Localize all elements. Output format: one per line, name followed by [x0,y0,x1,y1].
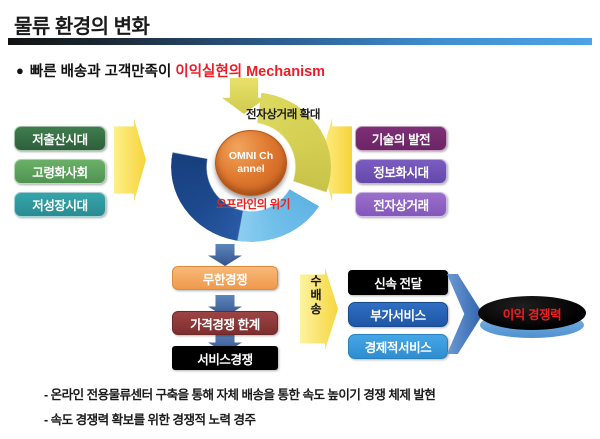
delivery-arrow-label: 수 배 송 [306,274,326,316]
subtitle-accent-text: 이익실현의 Mechanism [175,64,325,80]
right-factor-2[interactable]: 정보화시대 [355,159,447,184]
note-line-1: - 온라인 전용물류센터 구축을 통해 자체 배송을 통한 속도 높이기 경쟁 … [44,384,435,403]
bullet-icon: ● [16,63,24,78]
service-factor-2[interactable]: 부가서비스 [348,302,448,327]
connector-arrow-down-1-icon [208,244,242,266]
service-factor-1[interactable]: 신속 전달 [348,270,448,295]
arrow-right-icon [114,118,146,202]
right-factor-3[interactable]: 전자상거래 [355,192,447,217]
cycle-label-offline: 오프라인의 위기 [205,198,301,212]
title-underline [8,38,592,45]
flow-step-3[interactable]: 서비스경쟁 [172,346,278,370]
right-factor-1[interactable]: 기술의 발전 [355,126,447,151]
delivery-char-1: 수 [306,274,326,288]
delivery-char-3: 송 [306,302,326,316]
cycle-label-ecommerce: 전자상거래 확대 [235,108,331,122]
flow-step-1[interactable]: 무한경쟁 [172,266,278,290]
result-badge[interactable]: 이익 경쟁력 [478,296,586,330]
omni-channel-center[interactable]: OMNI Channel [215,130,287,196]
left-factor-3[interactable]: 저성장시대 [14,192,106,217]
left-factor-2[interactable]: 고령화사회 [14,159,106,184]
page-title: 물류 환경의 변화 [14,10,149,39]
flow-step-2[interactable]: 가격경쟁 한계 [172,311,278,335]
subtitle-plain-text: 빠른 배송과 고객만족이 [30,64,171,80]
left-factor-1[interactable]: 저출산시대 [14,126,106,151]
cycle-label-consumption: 소비 감축 [165,130,209,144]
delivery-char-2: 배 [306,288,326,302]
slide-canvas: 물류 환경의 변화 ●빠른 배송과 고객만족이 이익실현의 Mechanism … [0,0,600,439]
note-line-2: - 속도 경쟁력 확보를 위한 경쟁적 노력 경주 [44,409,255,428]
service-factor-3[interactable]: 경제적서비스 [348,334,448,359]
omni-cycle-diagram: OMNI Channel 소비 감축 전자상거래 확대 오프라인의 위기 [163,88,338,246]
subtitle-line: ●빠른 배송과 고객만족이 이익실현의 Mechanism [16,60,325,81]
